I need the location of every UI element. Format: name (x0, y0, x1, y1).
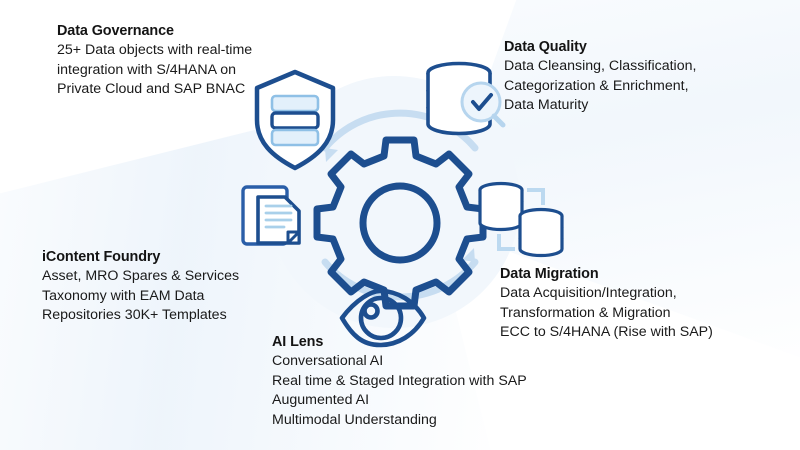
heading-ai-lens: AI Lens (272, 333, 527, 351)
diagram-canvas: Data Governance 25+ Data objects with re… (0, 0, 800, 450)
text-line: Transformation & Migration (500, 304, 713, 324)
heading-data-quality: Data Quality (504, 38, 696, 56)
heading-icontent-foundry: iContent Foundry (42, 248, 239, 266)
text-line: Data Maturity (504, 96, 696, 116)
text-line: Multimodal Understanding (272, 411, 527, 431)
body-data-migration: Data Acquisition/Integration, Transforma… (500, 284, 713, 343)
text-line: Private Cloud and SAP BNAC (57, 80, 252, 100)
body-data-quality: Data Cleansing, Classification, Categori… (504, 57, 696, 116)
text-line: integration with S/4HANA on (57, 61, 252, 81)
text-line: Data Cleansing, Classification, (504, 57, 696, 77)
text-line: Conversational AI (272, 352, 527, 372)
text-line: Categorization & Enrichment, (504, 77, 696, 97)
center-disc-background (268, 76, 520, 328)
text-line: Augumented AI (272, 391, 527, 411)
text-line: ECC to S/4HANA (Rise with SAP) (500, 323, 713, 343)
heading-data-migration: Data Migration (500, 265, 713, 283)
body-data-governance: 25+ Data objects with real-time integrat… (57, 41, 252, 100)
block-data-governance: Data Governance 25+ Data objects with re… (57, 22, 252, 100)
text-line: Data Acquisition/Integration, (500, 284, 713, 304)
text-line: Asset, MRO Spares & Services (42, 267, 239, 287)
heading-data-governance: Data Governance (57, 22, 252, 40)
text-line: 25+ Data objects with real-time (57, 41, 252, 61)
body-icontent-foundry: Asset, MRO Spares & Services Taxonomy wi… (42, 267, 239, 326)
text-line: Real time & Staged Integration with SAP (272, 372, 527, 392)
block-ai-lens: AI Lens Conversational AI Real time & St… (272, 333, 527, 430)
text-line: Taxonomy with EAM Data (42, 287, 239, 307)
block-data-quality: Data Quality Data Cleansing, Classificat… (504, 38, 696, 116)
block-data-migration: Data Migration Data Acquisition/Integrat… (500, 265, 713, 343)
body-ai-lens: Conversational AI Real time & Staged Int… (272, 352, 527, 430)
block-icontent-foundry: iContent Foundry Asset, MRO Spares & Ser… (42, 248, 239, 326)
text-line: Repositories 30K+ Templates (42, 306, 239, 326)
